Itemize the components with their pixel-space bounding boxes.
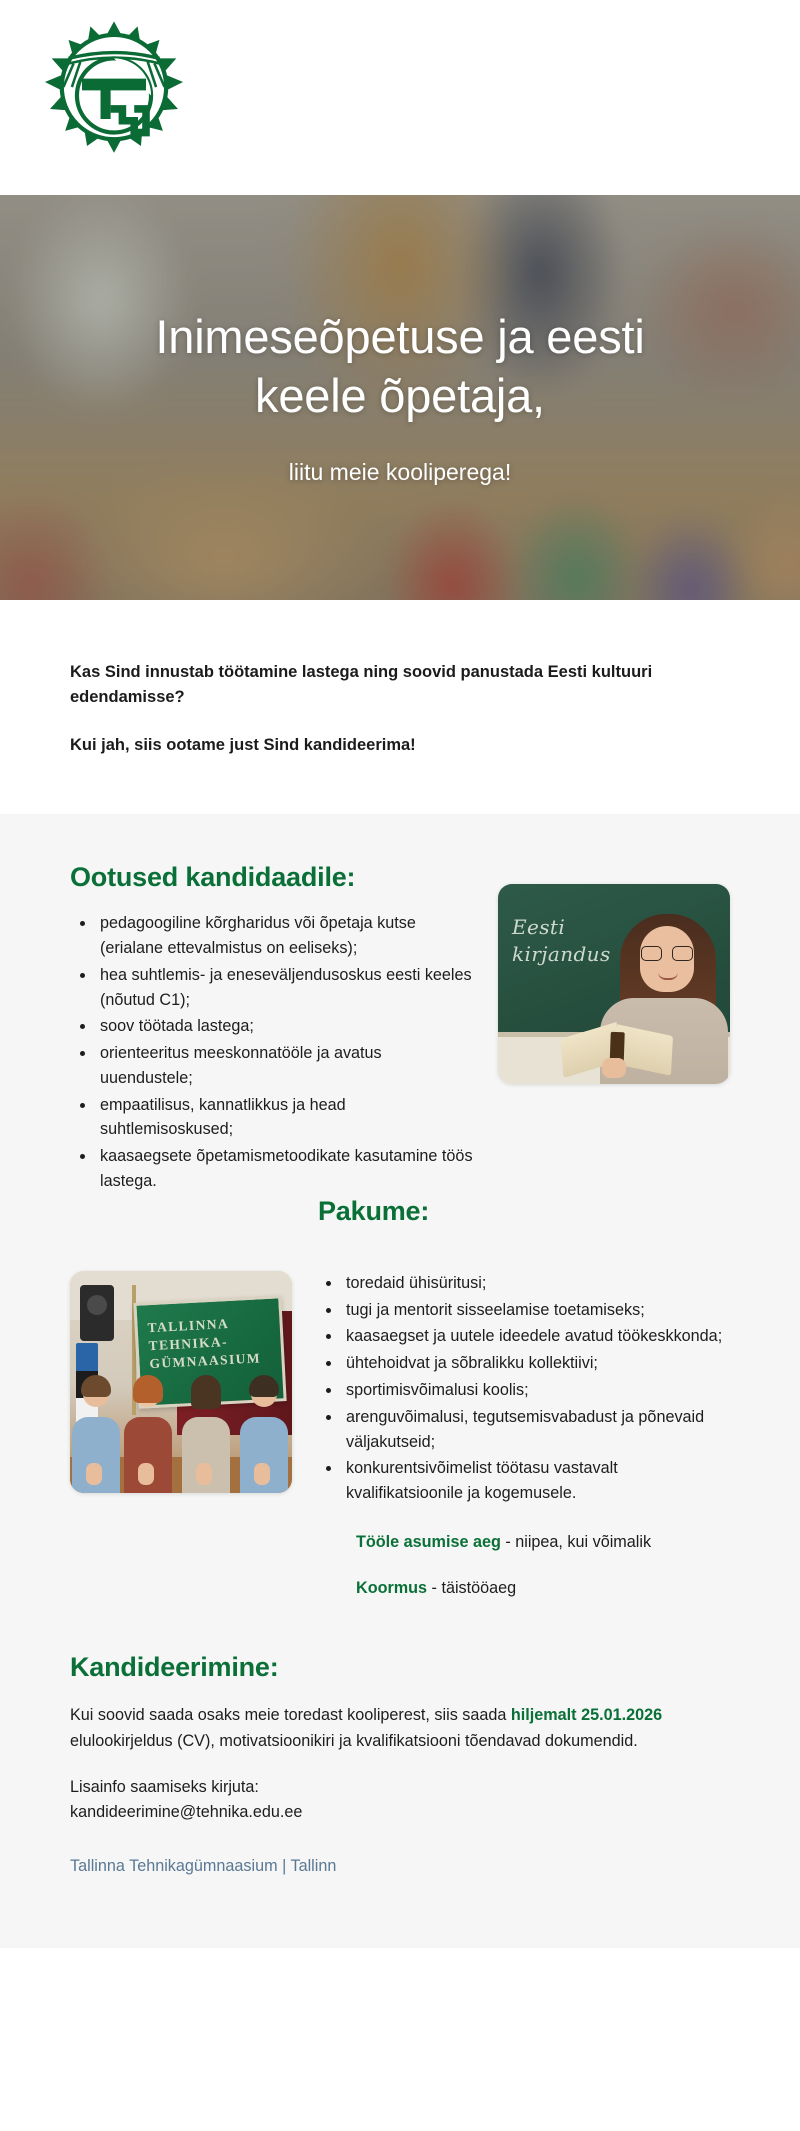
workload-value: - täistööaeg	[427, 1579, 516, 1597]
school-banner-text: TALLINNA TEHNIKA- GÜMNAASIUM	[147, 1312, 276, 1373]
staff-member	[240, 1377, 288, 1492]
contact-email[interactable]: kandideerimine@tehnika.edu.ee	[70, 1803, 302, 1821]
chalkboard-line-2: kirjandus	[512, 942, 611, 966]
list-item: sportimisvõimalusi koolis;	[342, 1378, 730, 1403]
site-header	[0, 0, 800, 195]
details-section: Ootused kandidaadile: pedagoogiline kõrg…	[0, 814, 800, 1948]
list-item: kaasaegset ja uutele ideedele avatud töö…	[342, 1324, 730, 1349]
staff-member	[124, 1377, 172, 1492]
list-item: empaatilisus, kannatlikkus ja head suhtl…	[96, 1093, 476, 1143]
list-item: konkurentsivõimelist töötasu vastavalt k…	[342, 1456, 730, 1506]
expectations-block: Ootused kandidaadile: pedagoogiline kõrg…	[0, 814, 800, 1196]
chalkboard-line-1: Eesti	[512, 915, 565, 939]
contact-label: Lisainfo saamiseks kirjuta:	[70, 1778, 259, 1796]
teacher-hand	[602, 1058, 626, 1078]
teacher-chalkboard-photo: Eesti kirjandus	[498, 884, 730, 1084]
list-item: tugi ja mentorit sisseelamise toetamisek…	[342, 1298, 730, 1323]
list-item: toredaid ühisüritusi;	[342, 1271, 730, 1296]
apply-block: Kandideerimine: Kui soovid saada osaks m…	[0, 1600, 800, 1878]
intro-section: Kas Sind innustab töötamine lastega ning…	[0, 600, 800, 814]
team-banner-photo: TALLINNA TEHNIKA- GÜMNAASIUM	[70, 1271, 292, 1493]
start-date-line: Tööle asumise aeg - niipea, kui võimalik	[356, 1530, 730, 1554]
staff-member	[182, 1377, 230, 1492]
glasses-icon	[640, 946, 694, 961]
hero-banner: Inimeseõpetuse ja eesti keele õpetaja, l…	[0, 195, 800, 600]
offers-heading: Pakume:	[318, 1196, 730, 1227]
staff-member	[72, 1377, 120, 1492]
staff-group	[70, 1377, 292, 1492]
apply-text-before: Kui soovid saada osaks meie toredast koo…	[70, 1706, 511, 1724]
apply-text-after: elulookirjeldus (CV), motivatsioonikiri …	[70, 1732, 638, 1750]
list-item: hea suhtlemis- ja eneseväljendusoskus ee…	[96, 963, 476, 1013]
expectations-heading: Ootused kandidaadile:	[70, 862, 476, 893]
workload-label: Koormus	[356, 1579, 427, 1597]
banner-line-2: TEHNIKA-	[148, 1334, 228, 1353]
banner-line-3: GÜMNAASIUM	[149, 1350, 261, 1371]
contact-info: Lisainfo saamiseks kirjuta:kandideerimin…	[70, 1775, 710, 1826]
job-posting-page: Inimeseõpetuse ja eesti keele õpetaja, l…	[0, 0, 800, 2131]
banner-line-1: TALLINNA	[147, 1316, 229, 1335]
apply-heading: Kandideerimine:	[70, 1652, 730, 1683]
expectations-list: pedagoogiline kõrgharidus või õpetaja ku…	[70, 911, 476, 1194]
start-date-label: Tööle asumise aeg	[356, 1533, 501, 1551]
list-item: orienteeritus meeskonnatööle ja avatus u…	[96, 1041, 476, 1091]
list-item: arenguvõimalusi, tegutsemisvabadust ja p…	[342, 1405, 730, 1455]
offers-list: toredaid ühisüritusi; tugi ja mentorit s…	[316, 1271, 730, 1506]
apply-instructions: Kui soovid saada osaks meie toredast koo…	[70, 1703, 710, 1754]
list-item: soov töötada lastega;	[96, 1014, 476, 1039]
apply-deadline: hiljemalt 25.01.2026	[511, 1706, 662, 1724]
footer-school-link[interactable]: Tallinna Tehnikagümnaasium | Tallinn	[70, 1854, 730, 1878]
hero-title: Inimeseõpetuse ja eesti keele õpetaja,	[155, 307, 644, 425]
intro-question: Kas Sind innustab töötamine lastega ning…	[70, 660, 730, 710]
school-logo-icon[interactable]	[28, 18, 200, 178]
chalkboard-text: Eesti kirjandus	[512, 914, 611, 967]
offers-block: Pakume: TALLINNA TEHNIKA-	[0, 1196, 800, 1601]
list-item: ühtehoidvat ja sõbralikku kollektiivi;	[342, 1351, 730, 1376]
hero-subtitle: liitu meie kooliperega!	[289, 456, 511, 488]
hero-title-line-1: Inimeseõpetuse ja eesti	[155, 310, 644, 363]
list-item: kaasaegsete õpetamismetoodikate kasutami…	[96, 1144, 476, 1194]
intro-call-to-action: Kui jah, siis ootame just Sind kandideer…	[70, 733, 730, 758]
start-date-value: - niipea, kui võimalik	[501, 1533, 651, 1551]
hero-title-line-2: keele õpetaja,	[255, 369, 545, 422]
workload-line: Koormus - täistööaeg	[356, 1576, 730, 1600]
loudspeaker-icon	[80, 1285, 114, 1341]
list-item: pedagoogiline kõrgharidus või õpetaja ku…	[96, 911, 476, 961]
